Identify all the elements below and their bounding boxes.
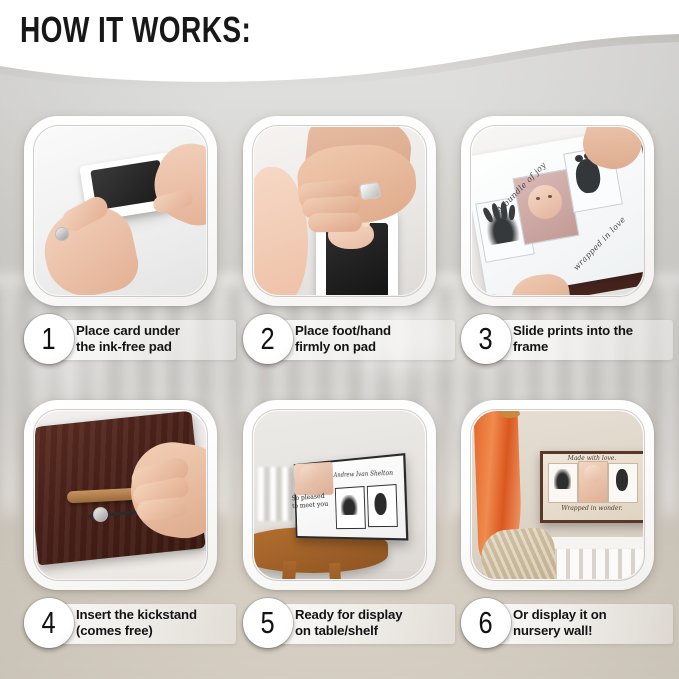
step-number-4: 4 <box>42 607 56 638</box>
step-label-line1: Slide prints into the <box>513 323 673 339</box>
step-photo-frame-4 <box>24 400 217 590</box>
handprint <box>554 469 571 489</box>
step-item-6: Made with love. Wrapped in wonder. <box>461 400 654 590</box>
step-label-line1: Place card under <box>76 323 236 339</box>
step-number-badge-3: 3 <box>461 314 511 364</box>
step-photo-frame-2 <box>243 116 436 306</box>
step-photo-2 <box>254 127 425 295</box>
baby-eye <box>548 195 552 198</box>
step-photo-3: A bundle of joy wrapped in love <box>472 127 643 295</box>
step-label-line2: frame <box>513 339 673 355</box>
step-number-badge-1: 1 <box>24 314 74 364</box>
step-caption-3: 3 Slide prints into the frame <box>461 314 673 366</box>
steps-grid: 1 Place card under the ink-free pad <box>0 0 679 679</box>
step-photo-6: Made with love. Wrapped in wonder. <box>472 411 643 579</box>
step-label-5: Ready for display on table/shelf <box>295 607 455 638</box>
infographic-page: HOW IT WORKS: 1 <box>0 0 679 679</box>
step-caption-1: 1 Place card under the ink-free pad <box>24 314 236 366</box>
finger <box>308 213 362 233</box>
step-caption-6: 6 Or display it on nursery wall! <box>461 598 673 650</box>
kickstand-knob <box>93 507 108 522</box>
step-label-line2: on table/shelf <box>295 623 455 639</box>
step-label-line1: Or display it on <box>513 607 673 623</box>
step-caption-2: 2 Place foot/hand firmly on pad <box>243 314 455 366</box>
crib-slats <box>544 549 643 579</box>
step-number-badge-5: 5 <box>243 598 293 648</box>
footprint-toe <box>575 155 583 162</box>
step-label-line2: (comes free) <box>76 623 236 639</box>
step-photo-4 <box>35 411 206 579</box>
ring <box>55 227 69 241</box>
step-caption-5: 5 Ready for display on table/shelf <box>243 598 455 650</box>
wedding-ring <box>359 182 381 201</box>
step-number-badge-4: 4 <box>24 598 74 648</box>
step-photo-frame-1 <box>24 116 217 306</box>
footprint <box>374 493 387 515</box>
step-item-3: A bundle of joy wrapped in love 3 Slide … <box>461 116 654 306</box>
step-photo-frame-3: A bundle of joy wrapped in love <box>461 116 654 306</box>
step-number-badge-6: 6 <box>461 598 511 648</box>
handprint <box>340 495 357 516</box>
frame-quote-text: So pleased to meet you <box>292 491 330 510</box>
step-label-line1: Place foot/hand <box>295 323 455 339</box>
step-photo-frame-5: Andrew Ivan Shelton So pleased to meet y… <box>243 400 436 590</box>
step-number-badge-2: 2 <box>243 314 293 364</box>
step-item-4: 4 Insert the kickstand (comes free) <box>24 400 217 590</box>
step-label-6: Or display it on nursery wall! <box>513 607 673 638</box>
step-label-1: Place card under the ink-free pad <box>76 323 236 354</box>
step-label-line2: firmly on pad <box>295 339 455 355</box>
step-item-2: 2 Place foot/hand firmly on pad <box>243 116 436 306</box>
step-photo-frame-6: Made with love. Wrapped in wonder. <box>461 400 654 590</box>
step-item-5: Andrew Ivan Shelton So pleased to meet y… <box>243 400 436 590</box>
baby-eye <box>536 197 540 200</box>
step-label-line1: Insert the kickstand <box>76 607 236 623</box>
step-label-4: Insert the kickstand (comes free) <box>76 607 236 638</box>
step-number-2: 2 <box>261 323 275 354</box>
step-number-3: 3 <box>479 323 493 354</box>
frame-text-bottom: Wrapped in wonder. <box>540 505 643 512</box>
step-number-5: 5 <box>261 607 275 638</box>
blanket-texture <box>479 527 558 579</box>
step-number-1: 1 <box>42 323 56 354</box>
step-item-1: 1 Place card under the ink-free pad <box>24 116 217 306</box>
step-label-3: Slide prints into the frame <box>513 323 673 354</box>
step-label-line2: the ink-free pad <box>76 339 236 355</box>
table-leg <box>281 561 297 579</box>
step-label-line2: nursery wall! <box>513 623 673 639</box>
step-photo-5: Andrew Ivan Shelton So pleased to meet y… <box>254 411 425 579</box>
baby-head <box>584 465 602 483</box>
table-leg <box>329 563 342 579</box>
step-number-6: 6 <box>479 607 493 638</box>
step-caption-4: 4 Insert the kickstand (comes free) <box>24 598 236 650</box>
step-photo-1 <box>35 127 206 295</box>
step-label-line1: Ready for display <box>295 607 455 623</box>
footprint <box>616 469 628 491</box>
step-label-2: Place foot/hand firmly on pad <box>295 323 455 354</box>
